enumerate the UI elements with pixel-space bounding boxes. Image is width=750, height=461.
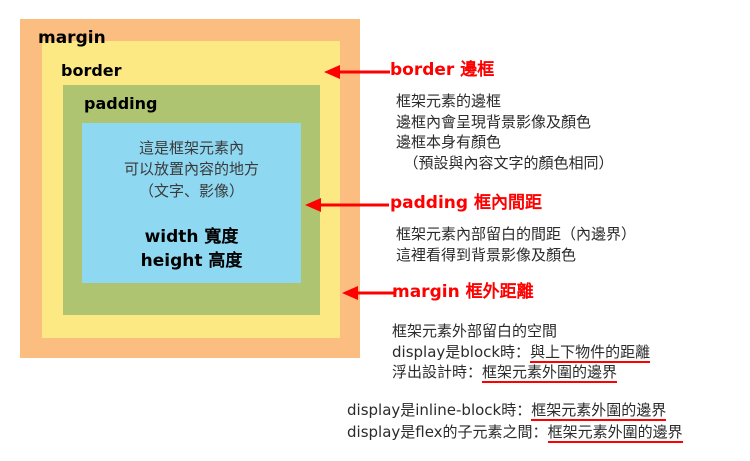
border-annotation: border 邊框 框架元素的邊框 邊框內會呈現背景影像及顏色 邊框本身有顏色 … (390, 62, 614, 173)
content-text-line-3: （文字、影像） (82, 181, 301, 202)
display-mode-notes: display是inline-block時：框架元素外圍的邊界 display是… (347, 400, 683, 444)
margin-annotation-line-2: display是block時：與上下物件的距離 (392, 342, 650, 363)
border-box-label: border (61, 63, 122, 79)
content-box-text: 這是框架元素內 可以放置內容的地方 （文字、影像） (82, 138, 301, 202)
margin-annotation-line-3: 浮出設計時：框架元素外圍的邊界 (392, 362, 650, 383)
margin-annotation-heading: margin 框外距離 (392, 284, 650, 301)
margin-line-2-prefix: display是block時： (392, 343, 530, 361)
padding-box-label: padding (84, 96, 157, 112)
margin-annotation: margin 框外距離 框架元素外部留白的空間 display是block時：與… (392, 284, 650, 383)
display-note-1-prefix: display是inline-block時： (347, 401, 531, 419)
box-model-diagram: margin border padding 這是框架元素內 可以放置內容的地方 … (0, 0, 380, 380)
border-pointer-arrow (322, 61, 392, 83)
margin-line-2-emphasis: 與上下物件的距離 (530, 343, 650, 363)
content-text-line-1: 這是框架元素內 (82, 138, 301, 159)
content-text-line-2: 可以放置內容的地方 (82, 159, 301, 180)
width-label: width 寬度 (82, 226, 301, 250)
border-annotation-line-2: 邊框內會呈現背景影像及顏色 (396, 112, 614, 133)
padding-annotation: padding 框內間距 框架元素內部留白的間距（內邊界） 這裡看得到背景影像及… (390, 195, 636, 265)
margin-box-label: margin (38, 30, 106, 47)
border-annotation-line-4: （預設與內容文字的顏色相同） (396, 153, 614, 174)
border-annotation-body: 框架元素的邊框 邊框內會呈現背景影像及顏色 邊框本身有顏色 （預設與內容文字的顏… (396, 91, 614, 173)
padding-annotation-heading: padding 框內間距 (390, 195, 636, 212)
height-label: height 高度 (82, 250, 301, 274)
display-note-1-emphasis: 框架元素外圍的邊界 (531, 401, 666, 421)
margin-line-3-prefix: 浮出設計時： (392, 363, 482, 381)
margin-pointer-arrow (340, 282, 398, 304)
padding-annotation-line-1: 框架元素內部留白的間距（內邊界） (396, 224, 636, 245)
display-note-2-emphasis: 框架元素外圍的邊界 (548, 423, 683, 443)
content-box-dimensions: width 寬度 height 高度 (82, 226, 301, 274)
padding-pointer-arrow (303, 194, 391, 216)
border-annotation-line-3: 邊框本身有顏色 (396, 132, 614, 153)
border-annotation-heading: border 邊框 (390, 62, 614, 79)
border-annotation-line-1: 框架元素的邊框 (396, 91, 614, 112)
display-note-2-prefix: display是flex的子元素之間： (347, 423, 548, 441)
display-note-line-2: display是flex的子元素之間：框架元素外圍的邊界 (347, 422, 683, 444)
display-note-line-1: display是inline-block時：框架元素外圍的邊界 (347, 400, 683, 422)
margin-annotation-line-1: 框架元素外部留白的空間 (392, 321, 650, 342)
margin-annotation-body: 框架元素外部留白的空間 display是block時：與上下物件的距離 浮出設計… (392, 321, 650, 383)
padding-annotation-body: 框架元素內部留白的間距（內邊界） 這裡看得到背景影像及顏色 (396, 224, 636, 265)
padding-annotation-line-2: 這裡看得到背景影像及顏色 (396, 245, 636, 266)
margin-line-3-emphasis: 框架元素外圍的邊界 (482, 363, 617, 383)
